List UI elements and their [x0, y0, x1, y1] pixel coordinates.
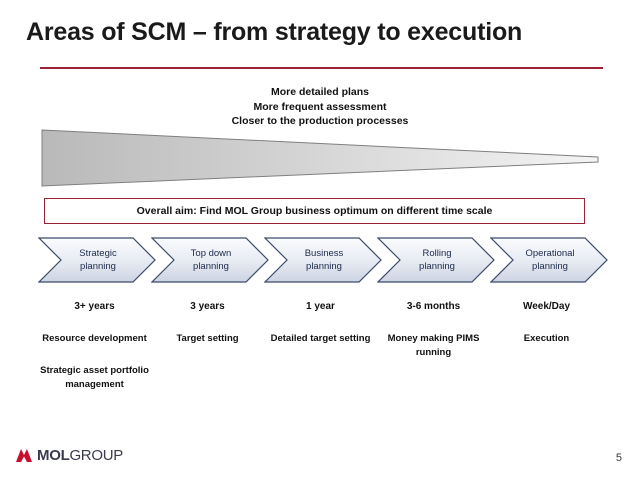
column-item: Money making PIMS running: [377, 332, 490, 360]
chevron-label-line2: planning: [80, 260, 116, 273]
column-item: Resource development: [38, 332, 151, 346]
column-item: Detailed target setting: [264, 332, 377, 346]
column-item: Target setting: [151, 332, 264, 346]
column-period: 3+ years: [38, 300, 151, 314]
chevron-label: Operational planning: [502, 237, 598, 283]
chevron-label-line1: Operational: [525, 247, 574, 260]
title-divider: [40, 67, 603, 69]
chevron-rolling-planning[interactable]: Rolling planning: [377, 237, 495, 283]
chevron-operational-planning[interactable]: Operational planning: [490, 237, 608, 283]
mol-logo-text: MOLGROUP: [37, 447, 123, 464]
column-strategic-planning: 3+ years Resource development Strategic …: [38, 300, 151, 392]
chevron-label: Rolling planning: [389, 237, 485, 283]
page-number: 5: [616, 452, 622, 464]
column-top-down-planning: 3 years Target setting: [151, 300, 264, 346]
logo-bold: MOL: [37, 447, 69, 464]
chevron-label-line2: planning: [306, 260, 342, 273]
column-period: Week/Day: [490, 300, 603, 314]
overall-aim-text: Overall aim: Find MOL Group business opt…: [137, 205, 493, 217]
callout-line-1: More detailed plans: [160, 85, 480, 100]
callout-line-3: Closer to the production processes: [160, 114, 480, 129]
chevron-label: Top down planning: [163, 237, 259, 283]
column-item: Strategic asset portfolio management: [38, 364, 151, 392]
chevron-strategic-planning[interactable]: Strategic planning: [38, 237, 156, 283]
chevron-label-line1: Top down: [191, 247, 232, 260]
chevron-label-line2: planning: [532, 260, 568, 273]
callout-line-2: More frequent assessment: [160, 100, 480, 115]
chevron-label: Business planning: [276, 237, 372, 283]
column-period: 3 years: [151, 300, 264, 314]
chevron-label-line1: Strategic: [79, 247, 117, 260]
overall-aim-box: Overall aim: Find MOL Group business opt…: [44, 198, 585, 224]
chevron-label-line1: Rolling: [422, 247, 451, 260]
chevron-label-line2: planning: [193, 260, 229, 273]
logo-light: GROUP: [69, 447, 123, 464]
chevron-row: Strategic planning Top down planning Bus…: [38, 237, 606, 283]
slide: Areas of SCM – from strategy to executio…: [0, 0, 640, 480]
chevron-label: Strategic planning: [50, 237, 146, 283]
column-period: 1 year: [264, 300, 377, 314]
chevron-label-line1: Business: [305, 247, 344, 260]
column-item: Execution: [490, 332, 603, 346]
callout-text: More detailed plans More frequent assess…: [160, 85, 480, 129]
mol-group-logo: MOLGROUP: [16, 447, 123, 464]
column-operational-planning: Week/Day Execution: [490, 300, 603, 346]
chevron-top-down-planning[interactable]: Top down planning: [151, 237, 269, 283]
detail-columns: 3+ years Resource development Strategic …: [38, 300, 606, 440]
column-rolling-planning: 3-6 months Money making PIMS running: [377, 300, 490, 360]
column-business-planning: 1 year Detailed target setting: [264, 300, 377, 346]
page-title: Areas of SCM – from strategy to executio…: [26, 18, 522, 47]
column-period: 3-6 months: [377, 300, 490, 314]
mol-logo-icon: [16, 449, 32, 463]
chevron-business-planning[interactable]: Business planning: [264, 237, 382, 283]
funnel-wedge-graphic: [40, 128, 600, 188]
chevron-label-line2: planning: [419, 260, 455, 273]
